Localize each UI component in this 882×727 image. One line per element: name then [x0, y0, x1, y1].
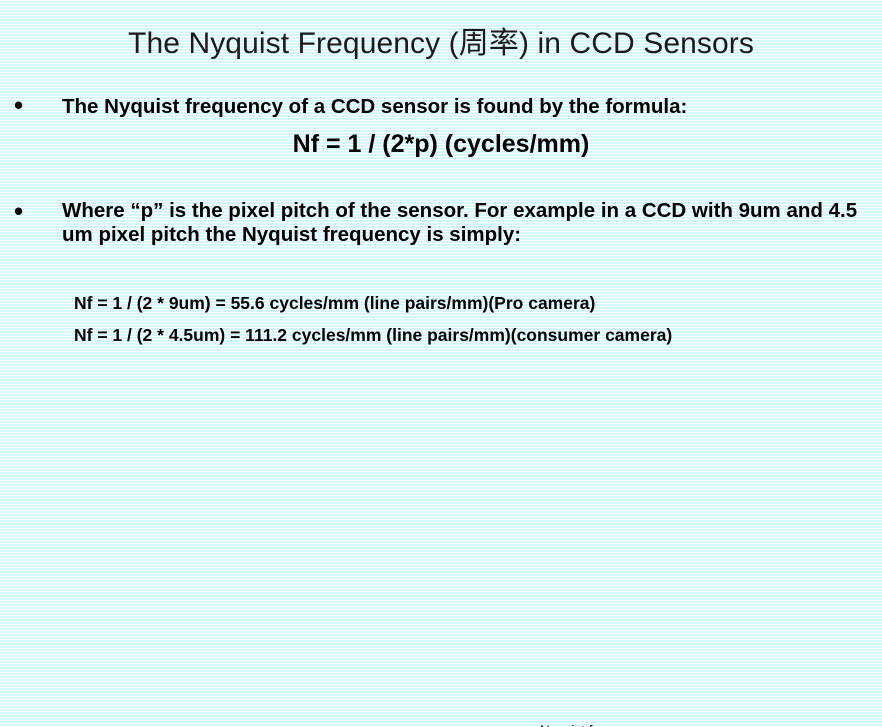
mtf-chart: 100% 80% 60% 40% 20% M T F	[0, 355, 882, 727]
slide-canvas: The Nyquist Frequency (周率) in CCD Sensor…	[0, 0, 882, 727]
nyquist-annotation-line1: Nyquist frequency	[540, 723, 648, 727]
bullet-marker-2: •	[14, 198, 23, 224]
bullet-text-2: Where “p” is the pixel pitch of the sens…	[62, 199, 862, 247]
page-title: The Nyquist Frequency (周率) in CCD Sensor…	[0, 18, 882, 62]
nyquist-formula: Nf = 1 / (2*p) (cycles/mm)	[0, 130, 882, 159]
bullet-text-1: The Nyquist frequency of a CCD sensor is…	[62, 95, 862, 119]
bullet-marker-1: •	[14, 92, 23, 118]
example-equation-2: Nf = 1 / (2 * 4.5um) = 111.2 cycles/mm (…	[74, 325, 672, 346]
example-equation-1: Nf = 1 / (2 * 9um) = 55.6 cycles/mm (lin…	[74, 293, 595, 314]
